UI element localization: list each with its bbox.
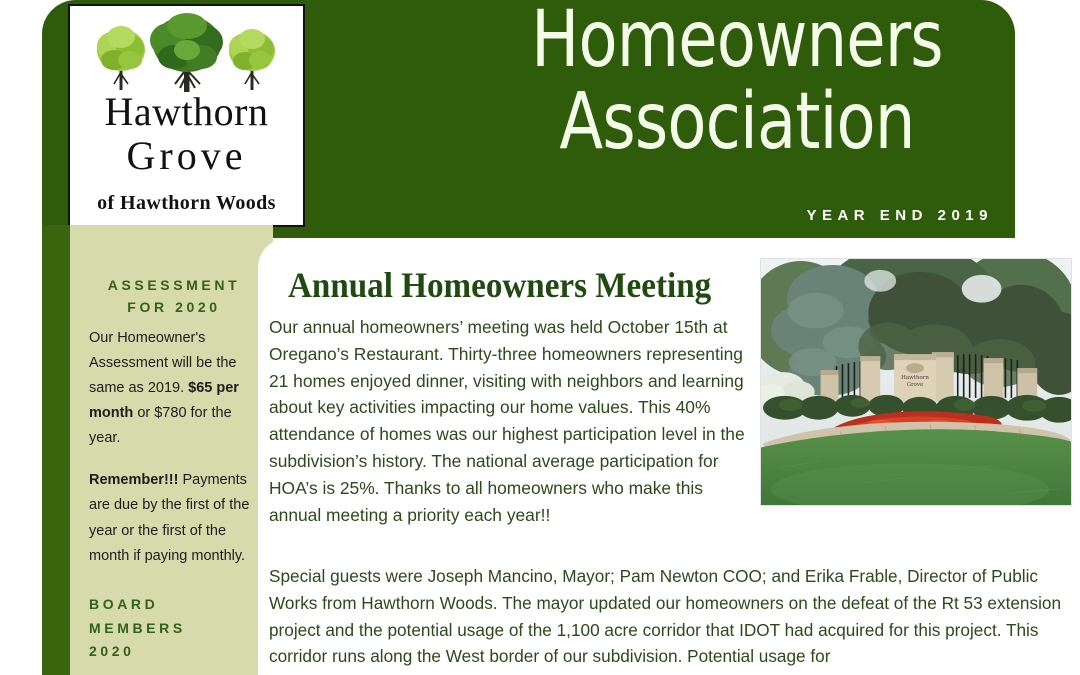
logo-subtitle: of Hawthorn Woods	[70, 192, 303, 215]
article-heading: Annual Homeowners Meeting	[288, 264, 711, 306]
logo-box: Hawthorn Grove of Hawthorn Woods	[68, 4, 305, 227]
page-title: Homeowners Association	[479, 2, 996, 161]
sidebar: ASSESSMENT FOR 2020 Our Homeowner's Asse…	[70, 225, 273, 675]
page-title-line2: Association	[479, 84, 996, 160]
sidebar-body: Our Homeowner's Assessment will be the s…	[89, 326, 259, 586]
sidebar-heading-assessment: ASSESSMENT FOR 2020	[88, 275, 260, 318]
sidebar-heading-assessment-line1: ASSESSMENT	[108, 277, 240, 293]
sidebar-heading-board-line3: 2020	[89, 640, 269, 664]
edition-label: YEAR END 2019	[806, 207, 993, 224]
logo-name-line2: Grove	[70, 136, 303, 176]
three-trees-icon	[70, 10, 303, 98]
svg-text:Grove: Grove	[907, 382, 924, 388]
sidebar-heading-assessment-line2: FOR 2020	[127, 299, 220, 315]
logo-name-line1: Hawthorn	[105, 89, 269, 134]
logo-name: Hawthorn Grove	[70, 92, 303, 176]
subdivision-entrance-photo: Hawthorn Grove	[760, 258, 1072, 506]
sidebar-heading-board-line1: BOARD	[89, 593, 269, 617]
sidebar-accent-bar	[42, 225, 70, 675]
page-title-line1: Homeowners	[479, 2, 996, 78]
sidebar-paragraph-assessment: Our Homeowner's Assessment will be the s…	[89, 326, 259, 451]
sidebar-reminder-label: Remember!!!	[89, 472, 178, 488]
sidebar-heading-board: BOARD MEMBERS 2020	[89, 593, 269, 664]
article-paragraph-2: Special guests were Joseph Mancino, Mayo…	[269, 563, 1079, 670]
article-paragraph-1: Our annual homeowners’ meeting was held …	[269, 314, 755, 528]
newsletter-page: Homeowners Association YEAR END 2019	[0, 0, 1080, 675]
svg-text:Hawthorn: Hawthorn	[901, 375, 929, 381]
sidebar-heading-board-line2: MEMBERS	[89, 617, 269, 641]
sidebar-paragraph-reminder: Remember!!! Payments are due by the firs…	[89, 468, 259, 568]
